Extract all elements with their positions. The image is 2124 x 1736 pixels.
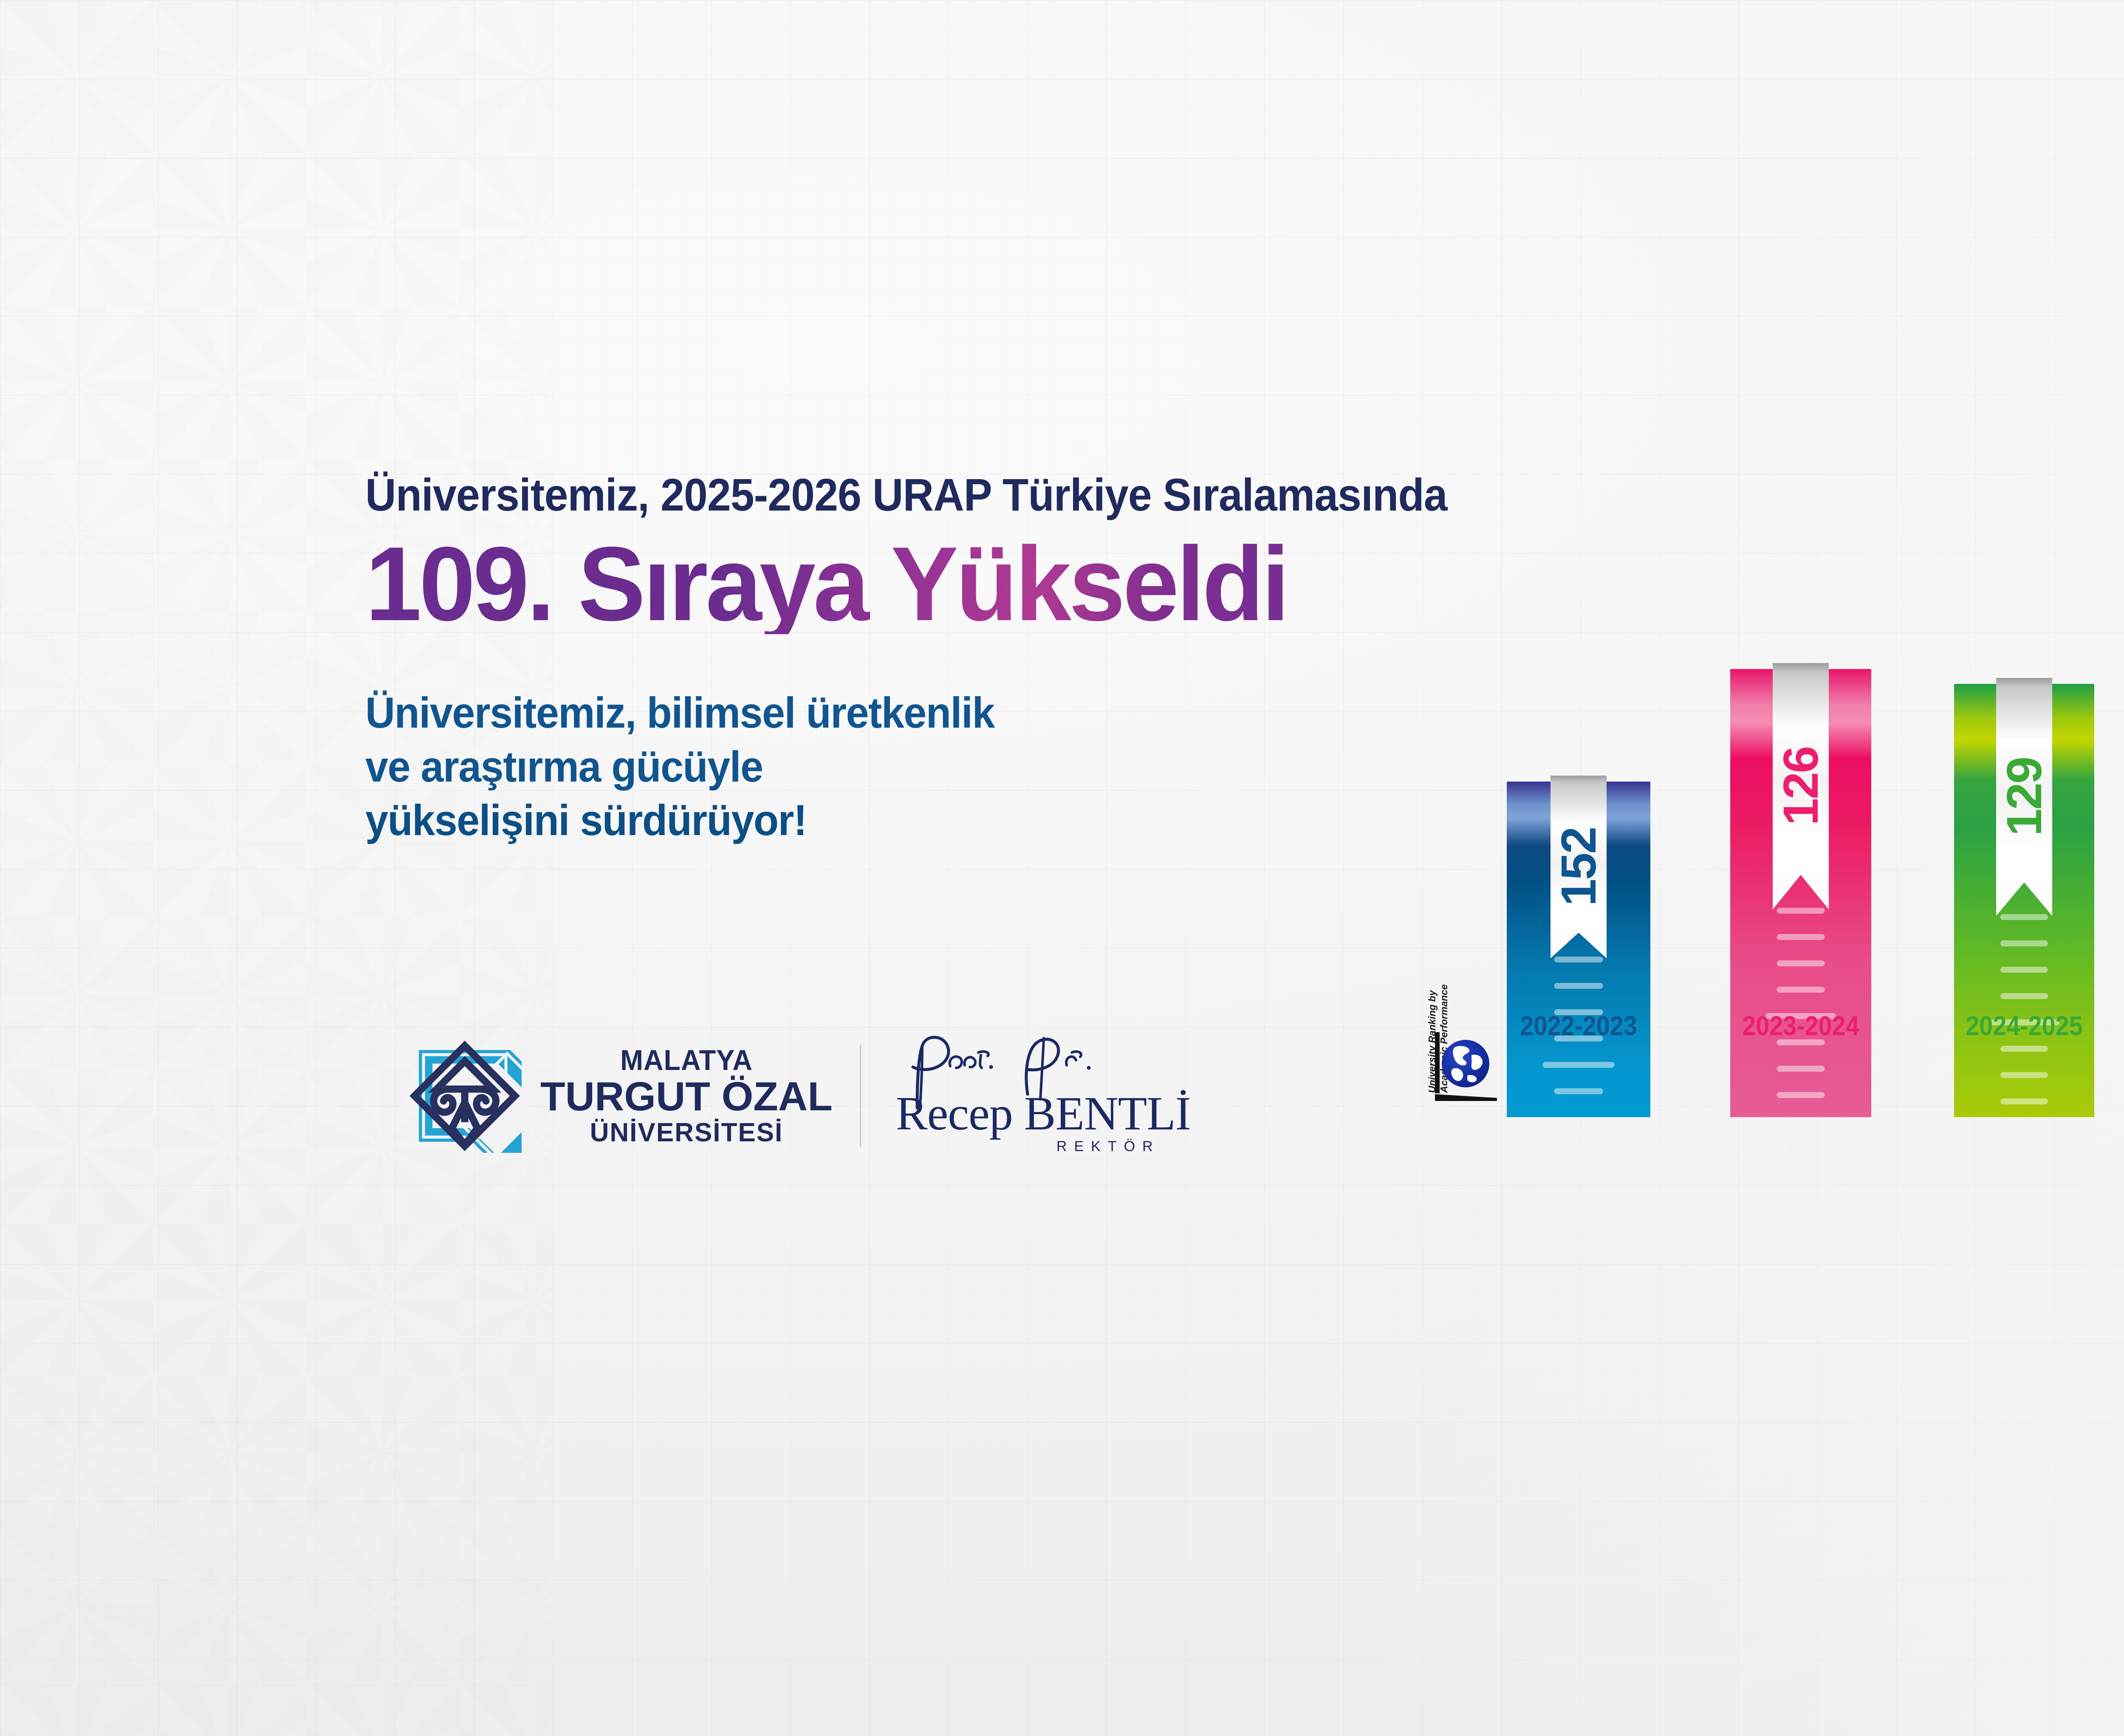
page-title: 109. Sıraya Yükseldi [365, 533, 1426, 634]
urap-logo-base [1435, 1094, 1497, 1101]
value-ribbon-2023-2024: 126 [1773, 663, 1829, 909]
bar-value-label: 129 [1996, 758, 2053, 836]
university-name-line-1: MALATYA [548, 1046, 825, 1075]
value-ribbon-2022-2023: 152 [1551, 776, 1607, 958]
rector-name: Recep BENTLİ [896, 1087, 1191, 1141]
university-name-line-2: TURGUT ÖZAL [540, 1076, 833, 1117]
category-label-2022-2023: 2022-2023 [1520, 1010, 1637, 1042]
rector-signature-block: Recep BENTLİ REKTÖR [888, 1032, 1194, 1160]
subheadline-line-3: yükselişini sürdürüyor! [365, 793, 1415, 847]
category-label-2024-2025: 2024-2025 [1966, 1010, 2082, 1042]
rector-role: REKTÖR [1056, 1138, 1160, 1155]
identity-row: MALATYA TURGUT ÖZAL ÜNİVERSİTESİ Recep [408, 1032, 1194, 1160]
vertical-divider [860, 1045, 861, 1147]
globe-icon [1442, 1040, 1489, 1087]
subheadline-line-2: ve araştırma gücüyle [365, 740, 1415, 793]
category-label-2023-2024: 2023-2024 [1742, 1010, 1859, 1042]
university-name: MALATYA TURGUT ÖZAL ÜNİVERSİTESİ [540, 1046, 833, 1146]
bar-group-2022-2023: 1522022-2023 [1507, 782, 1650, 1117]
university-emblem-icon [408, 1039, 522, 1153]
university-name-line-3: ÜNİVERSİTESİ [540, 1120, 833, 1146]
bar-group-2023-2024: 1262023-2024 [1730, 669, 1871, 1117]
ranking-bar-chart: University Ranking by Academic Performan… [1410, 463, 2124, 1245]
urap-logo-stem [1435, 1032, 1440, 1093]
subheadline-block: Üniversitemiz, bilimsel üretkenlik ve ar… [365, 686, 1415, 847]
bar-value-label: 152 [1550, 828, 1607, 906]
bar-value-label: 126 [1772, 747, 1829, 826]
subheadline-line-1: Üniversitemiz, bilimsel üretkenlik [365, 686, 1415, 740]
bar-group-2024-2025: 1292024-2025 [1954, 684, 2094, 1117]
headline-block: Üniversitemiz, 2025-2026 URAP Türkiye Sı… [365, 471, 1470, 847]
urap-logo: University Ranking by Academic Performan… [1415, 938, 1466, 1108]
value-ribbon-2024-2025: 129 [1996, 678, 2052, 916]
rector-name-text: Recep BENTLİ [896, 1087, 1191, 1140]
eyebrow-text: Üniversitemiz, 2025-2026 URAP Türkiye Sı… [365, 471, 1392, 519]
